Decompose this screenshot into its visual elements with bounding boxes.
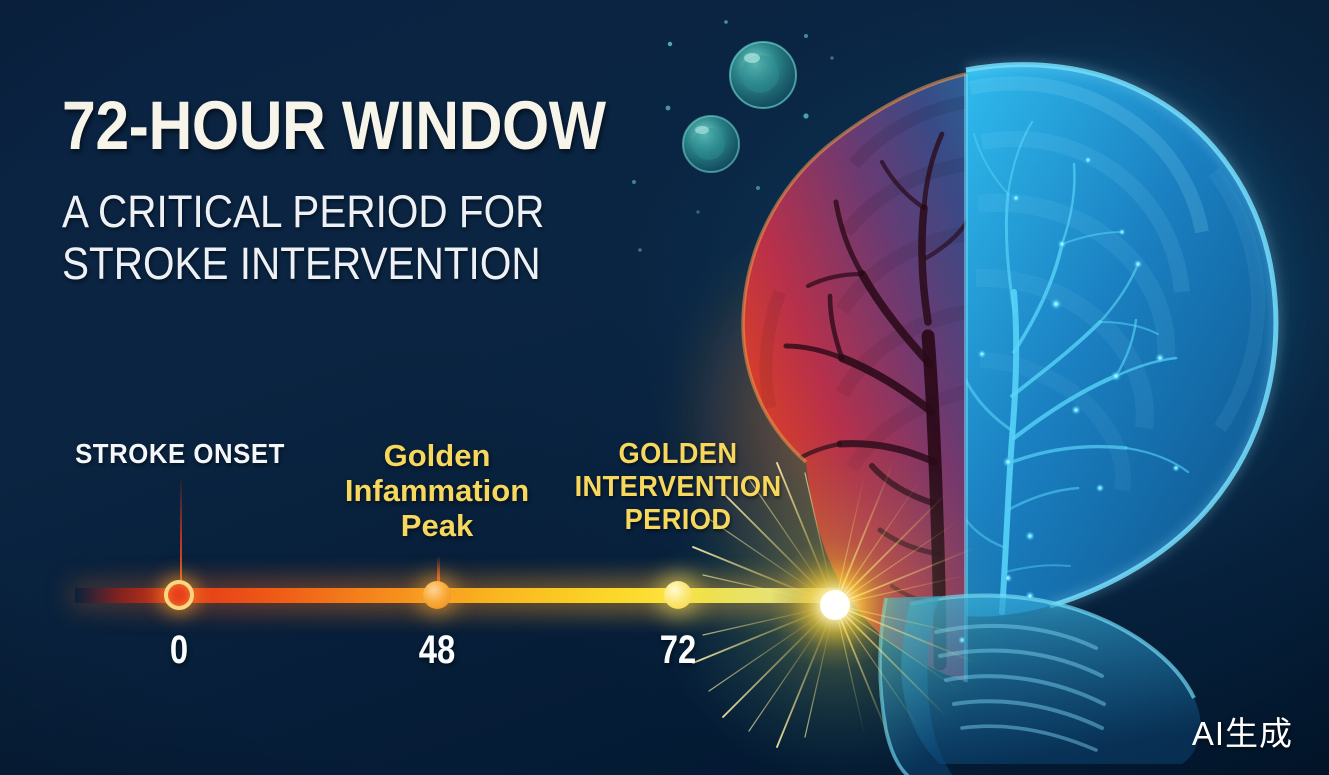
stage-label-line3: Peak xyxy=(337,508,537,543)
ai-generated-watermark: AI生成 xyxy=(1192,707,1293,755)
subtitle-line-1: A CRITICAL PERIOD FOR xyxy=(62,186,638,239)
infographic-poster: STROKE ONSET Golden Infammation Peak GOL… xyxy=(0,0,1329,775)
stage-label-golden-intervention-period: GOLDEN INTERVENTION PERIOD xyxy=(575,438,782,536)
stage-label-line2: Infammation xyxy=(337,473,537,508)
headline-block: 72-HOUR WINDOW A CRITICAL PERIOD FOR STR… xyxy=(62,92,702,291)
stage-label-line1: Golden xyxy=(337,438,537,473)
page-title: 72-HOUR WINDOW xyxy=(62,92,625,160)
ring-marker-0[interactable] xyxy=(164,580,194,610)
page-subtitle: A CRITICAL PERIOD FOR STROKE INTERVENTIO… xyxy=(62,186,638,291)
stage-label-line1: STROKE ONSET xyxy=(42,438,318,470)
stage-label-inflammation-peak: Golden Infammation Peak xyxy=(337,438,537,543)
dot-marker-72[interactable] xyxy=(664,581,692,609)
stage-label-line1: GOLDEN xyxy=(575,438,782,471)
tick-label-48: 48 xyxy=(388,628,486,673)
tick-label-72: 72 xyxy=(629,628,727,673)
tick-label-0: 0 xyxy=(130,628,228,673)
stage-label-line3: PERIOD xyxy=(575,504,782,537)
stage-label-stroke-onset: STROKE ONSET xyxy=(42,438,318,470)
stage-label-line2: INTERVENTION xyxy=(575,471,782,504)
dot-marker-48[interactable] xyxy=(423,581,451,609)
connector-line-onset xyxy=(180,478,182,588)
subtitle-line-2: STROKE INTERVENTION xyxy=(62,238,638,291)
